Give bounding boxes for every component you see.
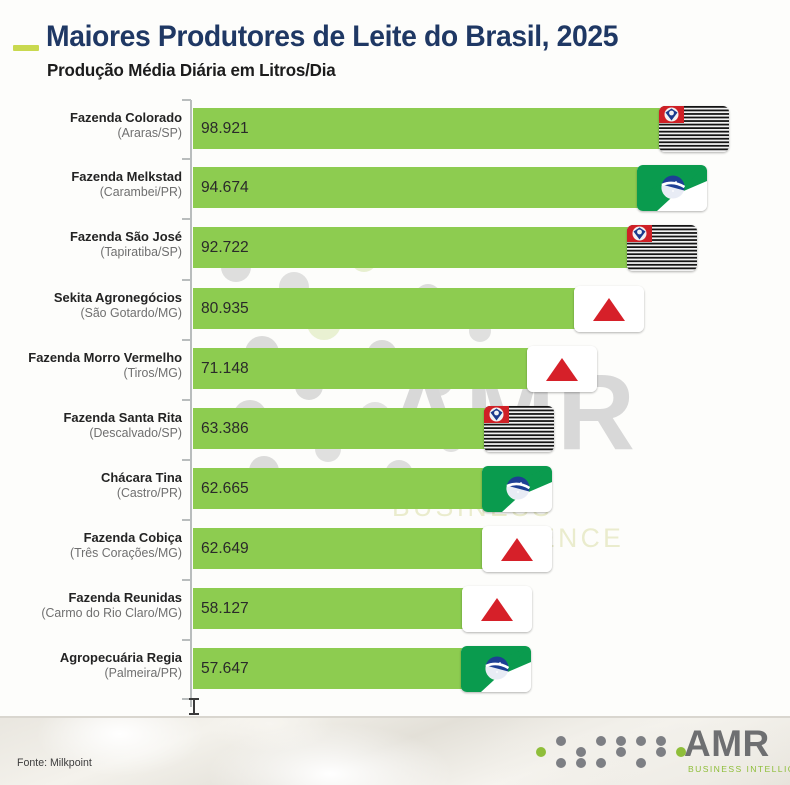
value-bar: 98.921 bbox=[193, 108, 672, 149]
bar-value-label: 92.722 bbox=[201, 239, 249, 257]
axis-tick bbox=[182, 579, 191, 581]
bar-row: Fazenda Reunidas(Carmo do Rio Claro/MG)5… bbox=[0, 588, 790, 629]
footer-divider bbox=[0, 716, 790, 718]
bar-value-label: 57.647 bbox=[201, 660, 249, 678]
producer-name: Fazenda Colorado bbox=[4, 110, 182, 126]
state-flag-mg-icon bbox=[527, 346, 597, 392]
bar-chart-plot-area: Fazenda Colorado(Araras/SP)98.921Fazenda… bbox=[0, 96, 790, 716]
value-bar: 63.386 bbox=[193, 408, 497, 449]
bar-row-label: Agropecuária Regia(Palmeira/PR) bbox=[0, 650, 188, 681]
state-flag-pr-icon bbox=[637, 165, 707, 211]
bar-value-label: 58.127 bbox=[201, 600, 249, 618]
chart-footer: Fonte: Milkpoint AMR BUSINESS INTELLIGEN… bbox=[0, 716, 790, 785]
producer-location: (Araras/SP) bbox=[4, 126, 182, 141]
value-bar: 80.935 bbox=[193, 288, 587, 329]
chart-page: Maiores Produtores de Leite do Brasil, 2… bbox=[0, 0, 790, 785]
bar-row-label: Fazenda São José(Tapiratiba/SP) bbox=[0, 229, 188, 260]
state-flag-pr-icon bbox=[482, 466, 552, 512]
bar-row-label: Fazenda Melkstad(Carambei/PR) bbox=[0, 169, 188, 200]
producer-location: (Descalvado/SP) bbox=[4, 426, 182, 441]
state-flag-pr-icon bbox=[461, 646, 531, 692]
producer-location: (Tiros/MG) bbox=[4, 366, 182, 381]
source-note: Fonte: Milkpoint bbox=[17, 757, 92, 769]
bar-row: Fazenda Santa Rita(Descalvado/SP)63.386 bbox=[0, 408, 790, 449]
producer-location: (Carmo do Rio Claro/MG) bbox=[4, 606, 182, 621]
bar-value-label: 62.649 bbox=[201, 540, 249, 558]
title-accent-dash bbox=[13, 45, 39, 51]
axis-tick bbox=[182, 158, 191, 160]
value-bar: 57.647 bbox=[193, 648, 474, 689]
bar-row: Agropecuária Regia(Palmeira/PR)57.647 bbox=[0, 648, 790, 689]
bar-row: Chácara Tina(Castro/PR)62.665 bbox=[0, 468, 790, 509]
bar-value-label: 71.148 bbox=[201, 360, 249, 378]
logo-dot bbox=[596, 758, 606, 768]
bar-row-label: Fazenda Reunidas(Carmo do Rio Claro/MG) bbox=[0, 590, 188, 621]
bar-row-label: Sekita Agronegócios(São Gotardo/MG) bbox=[0, 290, 188, 321]
producer-name: Agropecuária Regia bbox=[4, 650, 182, 666]
producer-location: (Tapiratiba/SP) bbox=[4, 245, 182, 260]
logo-dot bbox=[656, 747, 666, 757]
logo-dot bbox=[636, 758, 646, 768]
bar-value-label: 98.921 bbox=[201, 120, 249, 138]
value-bar: 62.649 bbox=[193, 528, 495, 569]
producer-location: (Carambei/PR) bbox=[4, 185, 182, 200]
logo-text: AMR bbox=[684, 725, 770, 762]
bar-row-label: Fazenda Cobiça(Três Corações/MG) bbox=[0, 530, 188, 561]
bar-row: Sekita Agronegócios(São Gotardo/MG)80.93… bbox=[0, 288, 790, 329]
bar-row: Fazenda Cobiça(Três Corações/MG)62.649 bbox=[0, 528, 790, 569]
logo-dot bbox=[536, 747, 546, 757]
bar-row: Fazenda São José(Tapiratiba/SP)92.722 bbox=[0, 227, 790, 268]
logo-dot bbox=[616, 747, 626, 757]
bar-row-label: Fazenda Colorado(Araras/SP) bbox=[0, 110, 188, 141]
logo-dot bbox=[556, 736, 566, 746]
axis-tick bbox=[182, 639, 191, 641]
state-flag-mg-icon bbox=[462, 586, 532, 632]
value-bar: 62.665 bbox=[193, 468, 495, 509]
page-title: Maiores Produtores de Leite do Brasil, 2… bbox=[46, 20, 618, 54]
bar-value-label: 94.674 bbox=[201, 179, 249, 197]
producer-name: Fazenda Cobiça bbox=[4, 530, 182, 546]
logo-dot bbox=[656, 736, 666, 746]
value-bar: 58.127 bbox=[193, 588, 475, 629]
producer-location: (Castro/PR) bbox=[4, 486, 182, 501]
value-bar: 94.674 bbox=[193, 167, 650, 208]
producer-name: Sekita Agronegócios bbox=[4, 290, 182, 306]
axis-tick bbox=[182, 339, 191, 341]
producer-name: Fazenda Melkstad bbox=[4, 169, 182, 185]
state-flag-sp-icon bbox=[484, 406, 554, 452]
logo-dot bbox=[576, 747, 586, 757]
logo-dot bbox=[596, 736, 606, 746]
bar-row: Fazenda Morro Vermelho(Tiros/MG)71.148 bbox=[0, 348, 790, 389]
producer-name: Fazenda Santa Rita bbox=[4, 410, 182, 426]
axis-tick bbox=[182, 99, 191, 101]
bar-row-label: Chácara Tina(Castro/PR) bbox=[0, 470, 188, 501]
producer-location: (Três Corações/MG) bbox=[4, 546, 182, 561]
value-bar: 92.722 bbox=[193, 227, 640, 268]
axis-tick bbox=[182, 399, 191, 401]
producer-name: Fazenda Reunidas bbox=[4, 590, 182, 606]
logo-dot bbox=[556, 758, 566, 768]
logo-tagline: BUSINESS INTELLIGENCE bbox=[688, 764, 790, 774]
axis-tick bbox=[182, 218, 191, 220]
state-flag-sp-icon bbox=[627, 225, 697, 271]
footer-logo: AMR BUSINESS INTELLIGENCE bbox=[536, 728, 776, 778]
producer-name: Fazenda São José bbox=[4, 229, 182, 245]
logo-dot bbox=[636, 736, 646, 746]
axis-tick bbox=[182, 519, 191, 521]
bar-row: Fazenda Melkstad(Carambei/PR)94.674 bbox=[0, 167, 790, 208]
bar-row: Fazenda Colorado(Araras/SP)98.921 bbox=[0, 108, 790, 149]
chart-header: Maiores Produtores de Leite do Brasil, 2… bbox=[0, 0, 790, 92]
page-subtitle: Produção Média Diária em Litros/Dia bbox=[47, 60, 335, 81]
text-cursor-icon bbox=[193, 698, 195, 715]
bar-value-label: 80.935 bbox=[201, 300, 249, 318]
bar-row-label: Fazenda Santa Rita(Descalvado/SP) bbox=[0, 410, 188, 441]
logo-dot bbox=[576, 758, 586, 768]
bar-value-label: 62.665 bbox=[201, 480, 249, 498]
value-bar: 71.148 bbox=[193, 348, 540, 389]
state-flag-mg-icon bbox=[482, 526, 552, 572]
producer-name: Fazenda Morro Vermelho bbox=[4, 350, 182, 366]
axis-tick bbox=[182, 279, 191, 281]
logo-dot bbox=[616, 736, 626, 746]
bar-row-label: Fazenda Morro Vermelho(Tiros/MG) bbox=[0, 350, 188, 381]
producer-location: (São Gotardo/MG) bbox=[4, 306, 182, 321]
state-flag-sp-icon bbox=[659, 106, 729, 152]
state-flag-mg-icon bbox=[574, 286, 644, 332]
bar-value-label: 63.386 bbox=[201, 420, 249, 438]
producer-name: Chácara Tina bbox=[4, 470, 182, 486]
axis-tick bbox=[182, 459, 191, 461]
producer-location: (Palmeira/PR) bbox=[4, 666, 182, 681]
